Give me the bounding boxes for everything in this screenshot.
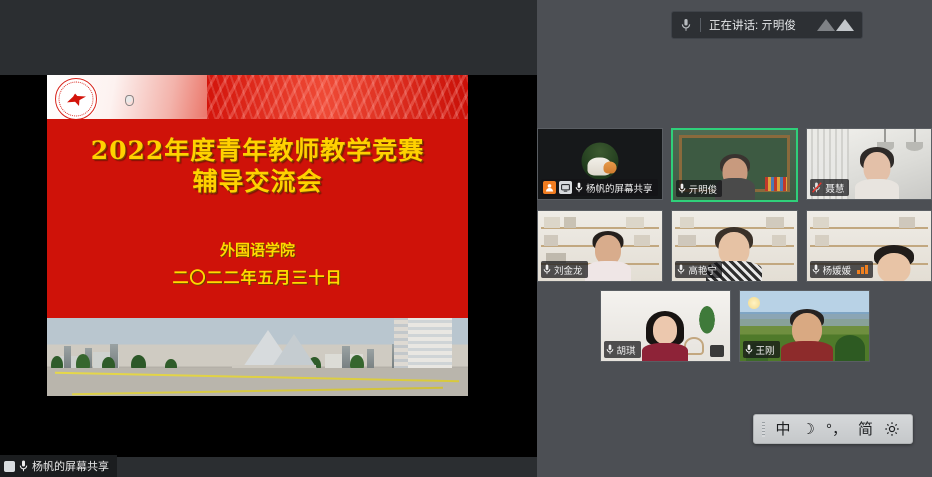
- avatar: [581, 143, 618, 180]
- microphone-icon: [575, 182, 583, 193]
- simplified-chinese-toggle[interactable]: 简: [858, 422, 873, 437]
- share-status-label: 杨帆的屏幕共享: [0, 455, 117, 477]
- active-speaker-text: 正在讲话: 亓明俊: [701, 17, 817, 33]
- tile-name-badge: 杨媛媛: [810, 261, 873, 278]
- tile-name-badge: 聂慧: [810, 179, 849, 196]
- video-tile-3[interactable]: 聂慧: [806, 128, 932, 200]
- tile-name-label: 聂慧: [825, 181, 844, 195]
- audio-wave-icon: [817, 19, 862, 31]
- drag-handle-icon[interactable]: [762, 422, 765, 437]
- tile-name-label: 亓明俊: [689, 182, 718, 196]
- video-tile-5[interactable]: 高艳宁: [671, 210, 797, 282]
- tile-name-badge: 胡琪: [604, 341, 641, 358]
- tile-name-badge: 杨帆的屏幕共享: [541, 179, 658, 196]
- slide-organization: 外国语学院: [47, 237, 468, 263]
- microphone-icon: [745, 344, 753, 355]
- shared-screen-area: 2022年度青年教师教学竞赛 辅导交流会 外国语学院 二〇二二年五月三十日: [0, 0, 537, 477]
- slide-body: 2022年度青年教师教学竞赛 辅导交流会 外国语学院 二〇二二年五月三十日: [47, 119, 468, 396]
- microphone-icon: [543, 264, 551, 275]
- video-tile-active-speaker[interactable]: 亓明俊: [671, 128, 799, 202]
- share-status-text: 杨帆的屏幕共享: [32, 458, 109, 474]
- gear-icon[interactable]: [884, 421, 900, 437]
- moon-icon[interactable]: ☽: [802, 422, 815, 437]
- tile-row: 杨帆的屏幕共享: [537, 128, 932, 202]
- presentation-slide: 2022年度青年教师教学竞赛 辅导交流会 外国语学院 二〇二二年五月三十日: [47, 75, 468, 396]
- slide-title-line2: 辅导交流会: [47, 166, 468, 197]
- slide-title: 2022年度青年教师教学竞赛 辅导交流会: [47, 135, 468, 197]
- tile-name-badge: 王刚: [743, 341, 780, 358]
- slide-swoosh: [173, 92, 468, 119]
- tile-name-label: 刘金龙: [554, 263, 583, 277]
- tile-name-label: 王刚: [756, 343, 775, 357]
- microphone-icon: [19, 460, 28, 472]
- signal-strength-icon: [857, 265, 868, 274]
- tile-name-label: 胡琪: [617, 343, 636, 357]
- tile-name-label: 杨帆的屏幕共享: [586, 181, 653, 195]
- slide-title-line1: 2022年度青年教师教学竞赛: [47, 135, 468, 166]
- screen-share-icon: [4, 461, 15, 472]
- participants-panel: 正在讲话: 亓明俊: [537, 0, 932, 477]
- microphone-icon: [678, 183, 686, 194]
- ime-toolbar[interactable]: 中 ☽ °， 简: [753, 414, 913, 444]
- punctuation-toggle[interactable]: °，: [826, 422, 847, 437]
- tile-name-badge: 高艳宁: [675, 261, 722, 278]
- tile-row: 刘金龙: [537, 210, 932, 282]
- meeting-window: 2022年度青年教师教学竞赛 辅导交流会 外国语学院 二〇二二年五月三十日: [0, 0, 932, 477]
- video-tile-grid: 杨帆的屏幕共享: [537, 128, 932, 370]
- slide-date: 二〇二二年五月三十日: [47, 264, 468, 288]
- tile-row: 胡琪: [537, 290, 932, 362]
- microphone-muted-icon: [812, 182, 822, 193]
- video-tile-6[interactable]: 杨媛媛: [806, 210, 932, 282]
- host-icon: [543, 181, 556, 194]
- microphone-icon: [677, 264, 685, 275]
- campus-photo: [47, 318, 468, 396]
- mouse-cursor-icon: [125, 95, 134, 106]
- chinese-mode-toggle[interactable]: 中: [776, 422, 791, 437]
- video-tile-7[interactable]: 胡琪: [600, 290, 731, 362]
- tile-name-badge: 亓明俊: [676, 180, 723, 197]
- tile-name-badge: 刘金龙: [541, 261, 588, 278]
- share-top-bar: [0, 0, 537, 75]
- video-tile-8[interactable]: 王刚: [739, 290, 870, 362]
- microphone-icon: [672, 18, 700, 32]
- screen-share-icon: [559, 181, 572, 194]
- video-tile-4[interactable]: 刘金龙: [537, 210, 663, 282]
- microphone-icon: [812, 264, 820, 275]
- tile-name-label: 杨媛媛: [823, 263, 852, 277]
- video-tile-screenshare[interactable]: 杨帆的屏幕共享: [537, 128, 663, 200]
- active-speaker-bar: 正在讲话: 亓明俊: [671, 11, 863, 39]
- slide-header-band: [47, 75, 468, 119]
- university-emblem-icon: [55, 78, 97, 119]
- microphone-icon: [606, 344, 614, 355]
- tile-name-label: 高艳宁: [688, 263, 717, 277]
